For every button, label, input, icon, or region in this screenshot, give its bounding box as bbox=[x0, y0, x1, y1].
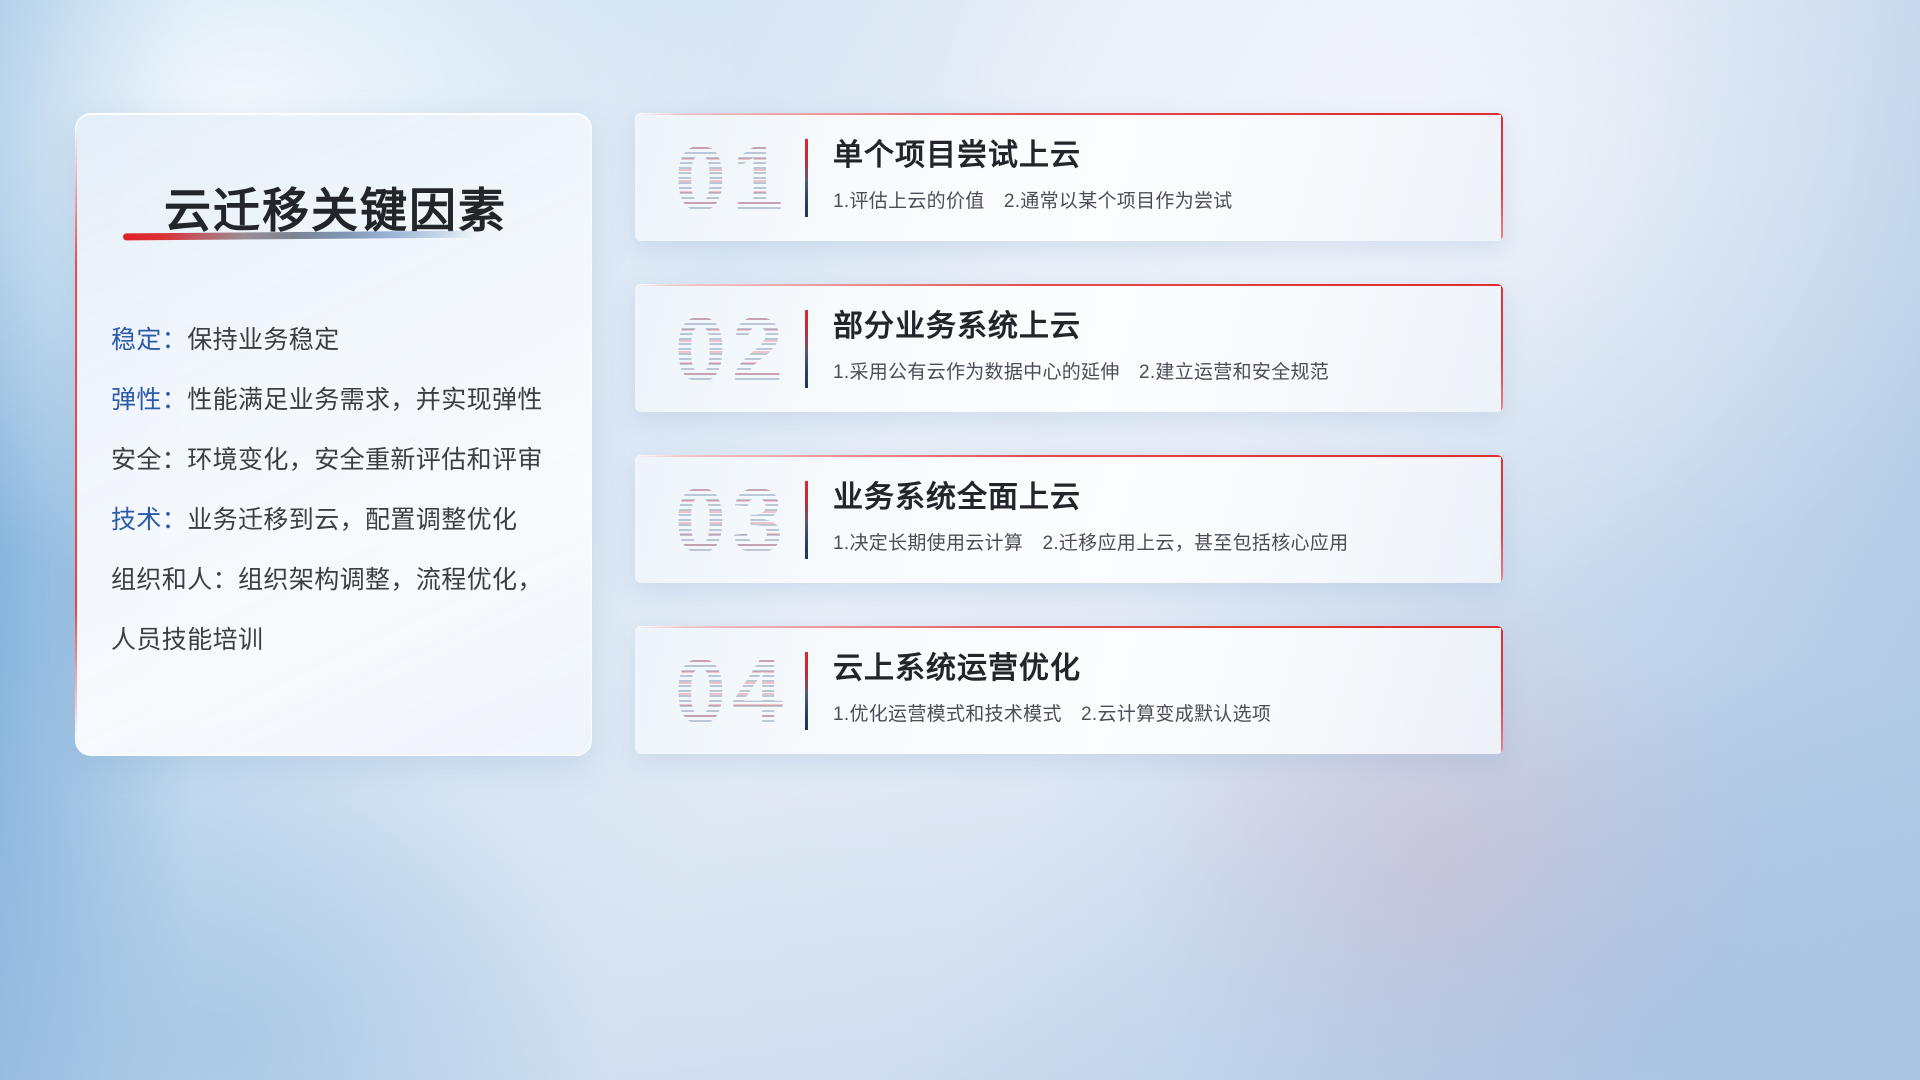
key-factor-value: 业务迁移到云，配置调整优化 bbox=[187, 506, 517, 534]
step-number-red-overlay: 01 bbox=[657, 127, 807, 231]
step-body: 云上系统运营优化1.优化运营模式和技术模式 2.云计算变成默认选项 bbox=[833, 648, 1479, 728]
key-factor-label: 组织和人： bbox=[111, 566, 238, 594]
key-factor-value: 环境变化，安全重新评估和评审 bbox=[187, 446, 543, 474]
migration-step-card[interactable]: 0404云上系统运营优化1.优化运营模式和技术模式 2.云计算变成默认选项 bbox=[635, 626, 1503, 754]
migration-steps-list: 0101单个项目尝试上云1.评估上云的价值 2.通常以某个项目作为尝试0202部… bbox=[635, 113, 1503, 797]
key-factor-label: 安全： bbox=[111, 446, 187, 474]
key-factor-item: 技术：业务迁移到云，配置调整优化 bbox=[111, 490, 565, 550]
step-title: 云上系统运营优化 bbox=[833, 648, 1479, 690]
key-factor-value: 组织架构调整，流程优化， bbox=[238, 566, 543, 594]
key-factor-value: 性能满足业务需求，并实现弹性 bbox=[187, 386, 543, 414]
step-description: 1.优化运营模式和技术模式 2.云计算变成默认选项 bbox=[833, 702, 1479, 728]
key-factor-label: 稳定： bbox=[111, 326, 187, 354]
step-divider-bar bbox=[805, 139, 808, 217]
key-factor-value: 人员技能培训 bbox=[111, 626, 263, 654]
key-factor-item: 弹性：性能满足业务需求，并实现弹性 bbox=[111, 370, 565, 430]
step-description: 1.采用公有云作为数据中心的延伸 2.建立运营和安全规范 bbox=[833, 360, 1479, 386]
step-divider-bar bbox=[805, 652, 808, 730]
step-body: 单个项目尝试上云1.评估上云的价值 2.通常以某个项目作为尝试 bbox=[833, 135, 1479, 215]
step-title: 业务系统全面上云 bbox=[833, 477, 1479, 519]
key-factor-label: 技术： bbox=[111, 506, 187, 534]
key-factors-panel: 云迁移关键因素 稳定：保持业务稳定弹性：性能满足业务需求，并实现弹性安全：环境变… bbox=[75, 113, 592, 756]
step-body: 部分业务系统上云1.采用公有云作为数据中心的延伸 2.建立运营和安全规范 bbox=[833, 306, 1479, 386]
key-factor-item: 人员技能培训 bbox=[111, 610, 565, 670]
step-body: 业务系统全面上云1.决定长期使用云计算 2.迁移应用上云，甚至包括核心应用 bbox=[833, 477, 1479, 557]
key-factor-item: 安全：环境变化，安全重新评估和评审 bbox=[111, 430, 565, 490]
step-title: 单个项目尝试上云 bbox=[833, 135, 1479, 177]
step-title: 部分业务系统上云 bbox=[833, 306, 1479, 348]
key-factors-list: 稳定：保持业务稳定弹性：性能满足业务需求，并实现弹性安全：环境变化，安全重新评估… bbox=[111, 310, 565, 670]
step-number-red-overlay: 02 bbox=[657, 298, 807, 402]
migration-step-card[interactable]: 0202部分业务系统上云1.采用公有云作为数据中心的延伸 2.建立运营和安全规范 bbox=[635, 284, 1503, 412]
step-number-red-overlay: 04 bbox=[657, 640, 807, 744]
migration-step-card[interactable]: 0101单个项目尝试上云1.评估上云的价值 2.通常以某个项目作为尝试 bbox=[635, 113, 1503, 241]
key-factor-item: 组织和人：组织架构调整，流程优化， bbox=[111, 550, 565, 610]
migration-step-card[interactable]: 0303业务系统全面上云1.决定长期使用云计算 2.迁移应用上云，甚至包括核心应… bbox=[635, 455, 1503, 583]
step-divider-bar bbox=[805, 481, 808, 559]
key-factor-label: 弹性： bbox=[111, 386, 187, 414]
key-factor-item: 稳定：保持业务稳定 bbox=[111, 310, 565, 370]
step-description: 1.评估上云的价值 2.通常以某个项目作为尝试 bbox=[833, 189, 1479, 215]
step-description: 1.决定长期使用云计算 2.迁移应用上云，甚至包括核心应用 bbox=[833, 531, 1479, 557]
step-number-red-overlay: 03 bbox=[657, 469, 807, 573]
step-divider-bar bbox=[805, 310, 808, 388]
key-factor-value: 保持业务稳定 bbox=[187, 326, 339, 354]
